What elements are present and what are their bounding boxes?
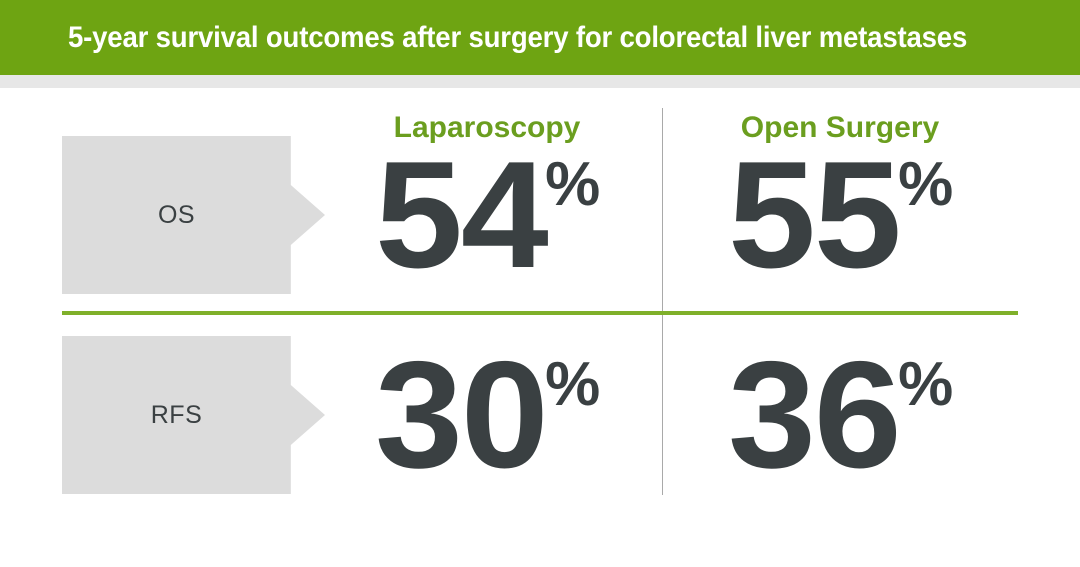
percent-symbol: % bbox=[545, 354, 600, 416]
value-os-laparoscopy: 54% bbox=[375, 136, 600, 294]
value-number: 36 bbox=[728, 340, 900, 490]
value-os-open-surgery: 55% bbox=[728, 136, 953, 294]
row-divider bbox=[62, 311, 1018, 315]
row-label-rfs-text: RFS bbox=[62, 336, 291, 494]
page-title: 5-year survival outcomes after surgery f… bbox=[68, 0, 967, 75]
value-rfs-laparoscopy: 30% bbox=[375, 336, 600, 494]
banner-underline bbox=[0, 75, 1080, 88]
column-divider bbox=[662, 108, 663, 495]
percent-symbol: % bbox=[545, 154, 600, 216]
row-label-rfs: RFS bbox=[62, 336, 325, 494]
title-banner: 5-year survival outcomes after surgery f… bbox=[0, 0, 1080, 75]
comparison-table: Laparoscopy Open Surgery OS 54% 55% RFS … bbox=[0, 88, 1080, 567]
row-label-os-text: OS bbox=[62, 136, 291, 294]
percent-symbol: % bbox=[898, 154, 953, 216]
percent-symbol: % bbox=[898, 354, 953, 416]
row-label-os: OS bbox=[62, 136, 325, 294]
value-number: 55 bbox=[728, 140, 900, 290]
value-number: 54 bbox=[375, 140, 547, 290]
value-rfs-open-surgery: 36% bbox=[728, 336, 953, 494]
value-number: 30 bbox=[375, 340, 547, 490]
